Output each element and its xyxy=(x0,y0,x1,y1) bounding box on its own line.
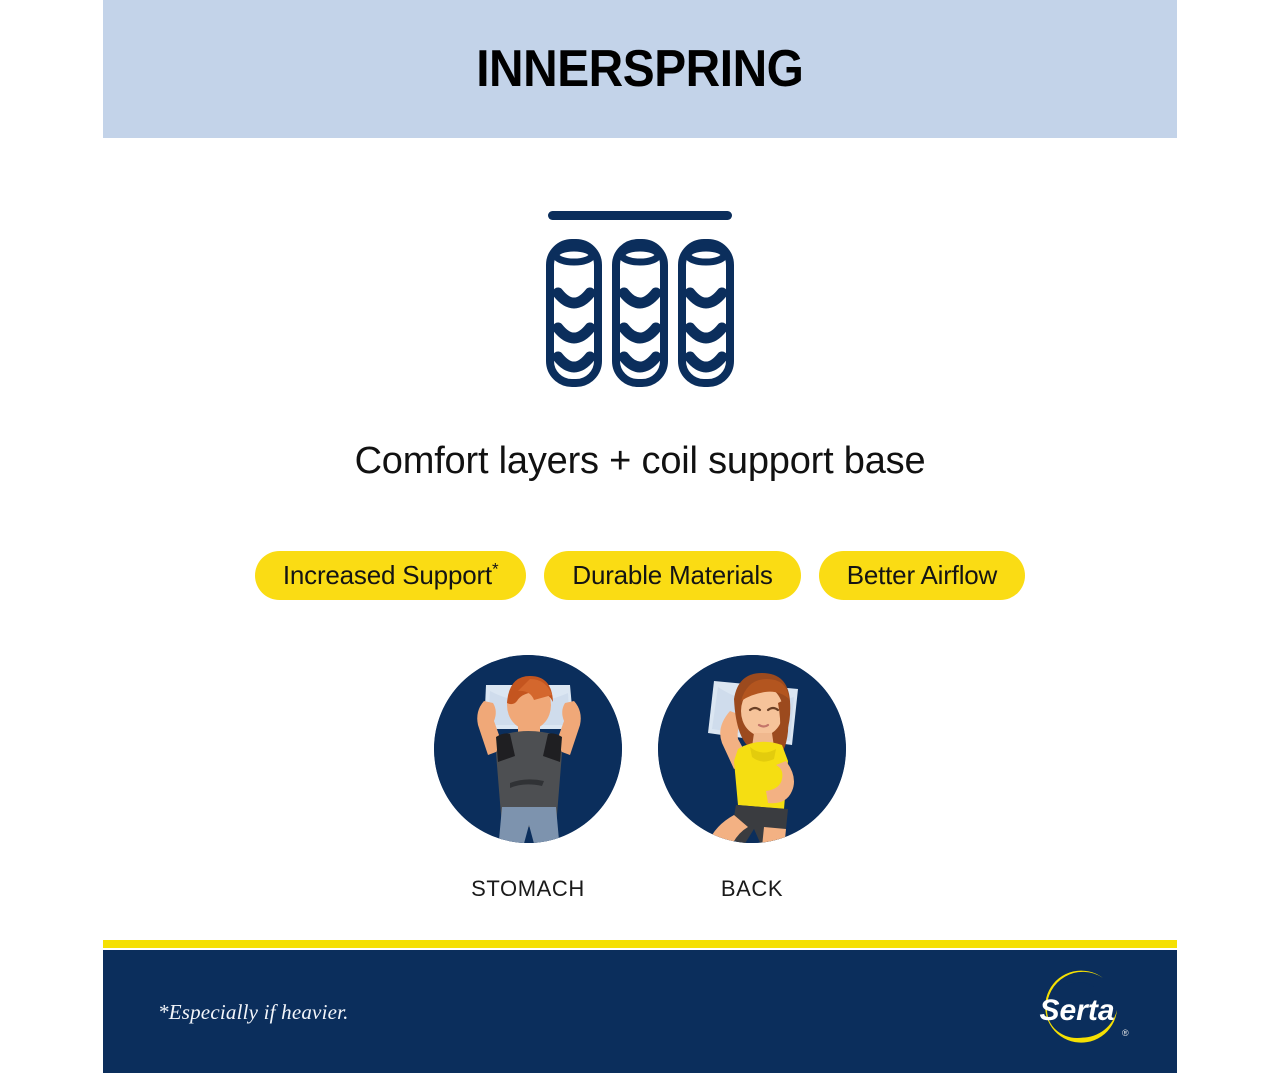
serta-logo: Serta ® xyxy=(1025,964,1135,1056)
page-title: INNERSPRING xyxy=(476,39,803,99)
asterisk-marker: * xyxy=(492,559,498,578)
header-band: INNERSPRING xyxy=(103,0,1177,138)
feature-pill-increased-support[interactable]: Increased Support* xyxy=(255,551,527,600)
feature-pill-better-airflow[interactable]: Better Airflow xyxy=(819,551,1025,600)
sleep-position-label-stomach: STOMACH xyxy=(471,876,585,902)
serta-logo-mark: Serta ® xyxy=(1025,964,1135,1056)
feature-pill-label: Increased Support* xyxy=(283,560,499,591)
sleep-positions-row: STOMACH xyxy=(103,655,1177,902)
infographic-page: INNERSPRING xyxy=(0,0,1280,1073)
stomach-sleeper-figure xyxy=(434,655,622,843)
sleep-position-back: BACK xyxy=(658,655,846,902)
feature-pills-row: Increased Support* Durable Materials Bet… xyxy=(103,551,1177,600)
registered-mark: ® xyxy=(1122,1028,1129,1038)
footer-accent-rule xyxy=(103,940,1177,948)
coil-icon-container xyxy=(0,205,1280,395)
footnote-text: *Especially if heavier. xyxy=(158,1000,349,1025)
back-sleeper-illustration xyxy=(658,655,846,843)
serta-wordmark: Serta xyxy=(1039,994,1114,1027)
innerspring-coils-icon xyxy=(540,205,740,395)
back-sleeper-figure xyxy=(658,655,846,843)
tagline: Comfort layers + coil support base xyxy=(103,440,1177,483)
footer: *Especially if heavier. Serta ® xyxy=(103,950,1177,1073)
feature-pill-label: Better Airflow xyxy=(847,560,997,591)
sleep-position-stomach: STOMACH xyxy=(434,655,622,902)
feature-pill-label: Durable Materials xyxy=(572,560,772,591)
stomach-sleeper-illustration xyxy=(434,655,622,843)
feature-pill-durable-materials[interactable]: Durable Materials xyxy=(544,551,800,600)
sleep-position-label-back: BACK xyxy=(721,876,783,902)
